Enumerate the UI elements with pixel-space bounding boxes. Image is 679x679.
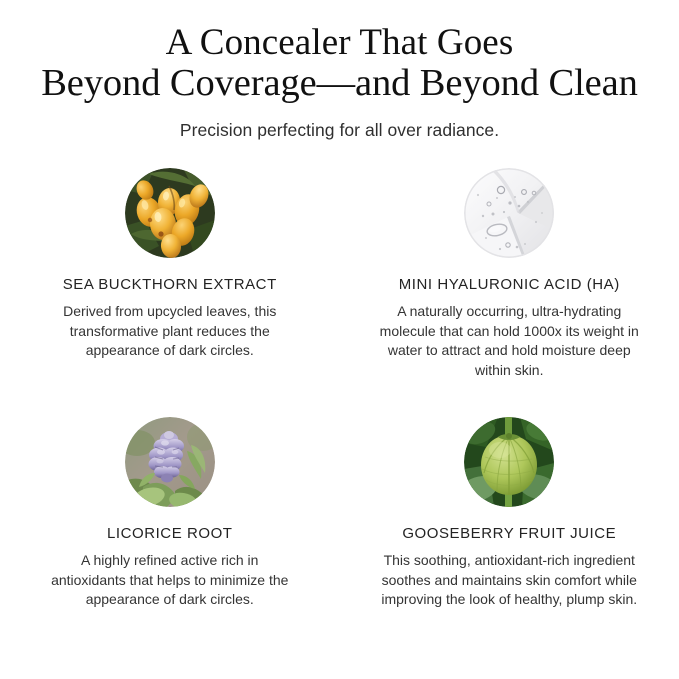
- ingredient-name: MINI HYALURONIC ACID (HA): [399, 276, 620, 293]
- gooseberry-husk-fruit-photo: [464, 417, 554, 507]
- licorice-root-flower-photo: [125, 417, 215, 507]
- hyaluronic-acid-gel-icon: [464, 168, 554, 258]
- ingredient-card-gooseberry: GOOSEBERRY FRUIT JUICE This soothing, an…: [340, 417, 679, 610]
- ingredient-name: GOOSEBERRY FRUIT JUICE: [402, 525, 616, 542]
- ingredient-description: This soothing, antioxidant-rich ingredie…: [378, 551, 640, 610]
- ingredient-description: Derived from upcycled leaves, this trans…: [42, 302, 297, 361]
- ingredient-benefits-panel: A Concealer That Goes Beyond Coverage—an…: [0, 0, 679, 679]
- headline-line-1: A Concealer That Goes: [0, 22, 679, 63]
- headline-line-2: Beyond Coverage—and Beyond Clean: [0, 63, 679, 104]
- ingredient-description: A highly refined active rich in antioxid…: [42, 551, 297, 610]
- ingredient-description: A naturally occurring, ultra-hydrating m…: [378, 302, 640, 380]
- header: A Concealer That Goes Beyond Coverage—an…: [0, 0, 679, 141]
- sea-buckthorn-berries-icon: [125, 168, 215, 258]
- page-subtitle: Precision perfecting for all over radian…: [0, 120, 679, 141]
- hyaluronic-acid-gel-swatch-photo: [464, 168, 554, 258]
- ingredients-grid: SEA BUCKTHORN EXTRACT Derived from upcyc…: [0, 168, 679, 610]
- ingredient-card-hyaluronic-acid: MINI HYALURONIC ACID (HA) A naturally oc…: [340, 168, 679, 380]
- page-title: A Concealer That Goes Beyond Coverage—an…: [0, 22, 679, 104]
- ingredient-name: SEA BUCKTHORN EXTRACT: [63, 276, 277, 293]
- ingredient-card-sea-buckthorn: SEA BUCKTHORN EXTRACT Derived from upcyc…: [0, 168, 340, 380]
- ingredient-name: LICORICE ROOT: [107, 525, 233, 542]
- gooseberry-husk-fruit-icon: [464, 417, 554, 507]
- sea-buckthorn-berries-photo: [125, 168, 215, 258]
- licorice-root-flower-icon: [125, 417, 215, 507]
- ingredient-card-licorice-root: LICORICE ROOT A highly refined active ri…: [0, 417, 340, 610]
